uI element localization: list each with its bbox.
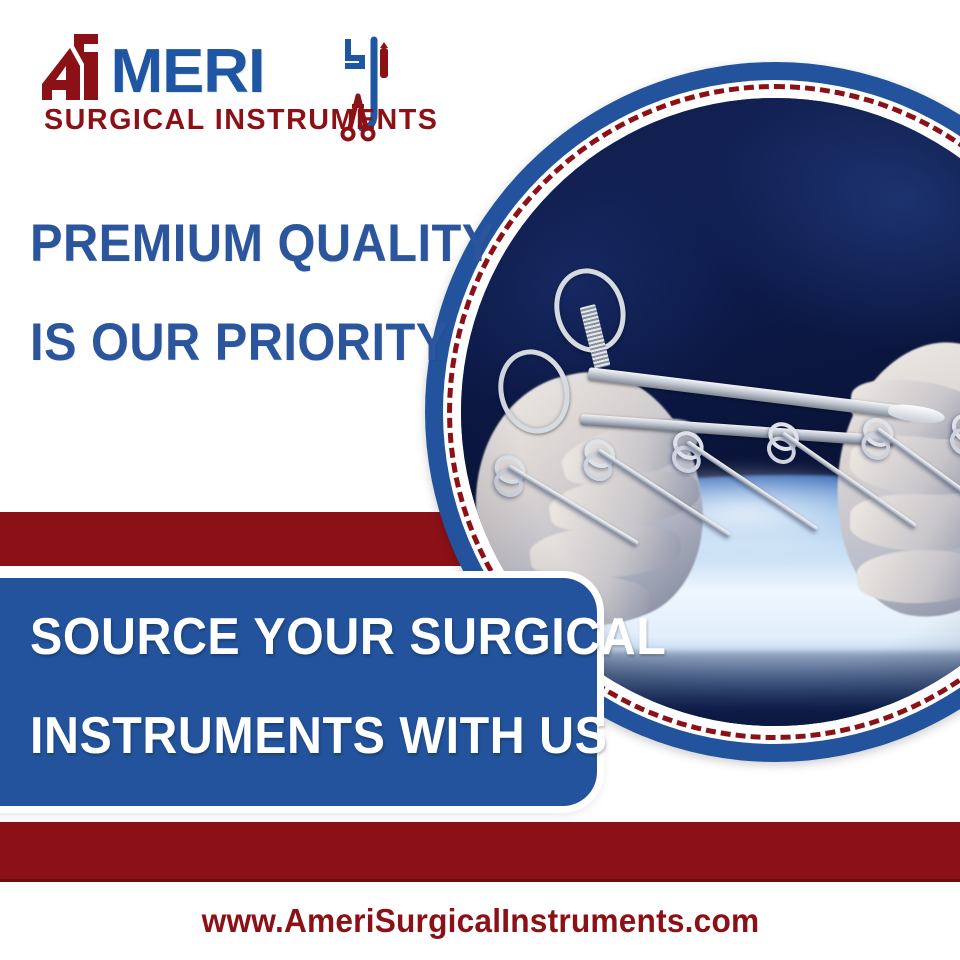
- cta-line-2: INSTRUMENTS WITH US: [30, 709, 531, 764]
- stylized-a-icon: [40, 32, 110, 102]
- logo-wordmark: MERI: [40, 30, 263, 102]
- website-url[interactable]: www.AmeriSurgicalInstruments.com: [201, 902, 759, 940]
- scalpel-icon: [380, 42, 388, 78]
- cta-panel: SOURCE YOUR SURGICAL INSTRUMENTS WITH US: [0, 578, 597, 806]
- headline-line-2: IS OUR PRIORITY: [30, 315, 426, 370]
- cta-line-1: SOURCE YOUR SURGICAL: [30, 610, 531, 665]
- cta-text-group: SOURCE YOUR SURGICAL INSTRUMENTS WITH US: [30, 610, 569, 763]
- promo-poster: MERI SURGICA: [0, 0, 960, 960]
- headline: PREMIUM QUALITY IS OUR PRIORITY: [30, 216, 460, 370]
- logo-tagline: SURGICAL INSTRUMENTS: [44, 104, 438, 137]
- logo-meri-text: MERI: [110, 43, 264, 102]
- red-band-lower: [0, 822, 960, 880]
- headline-line-1: PREMIUM QUALITY: [30, 216, 426, 271]
- footer-bar: www.AmeriSurgicalInstruments.com: [0, 882, 960, 960]
- brand-logo[interactable]: MERI SURGICA: [40, 30, 390, 148]
